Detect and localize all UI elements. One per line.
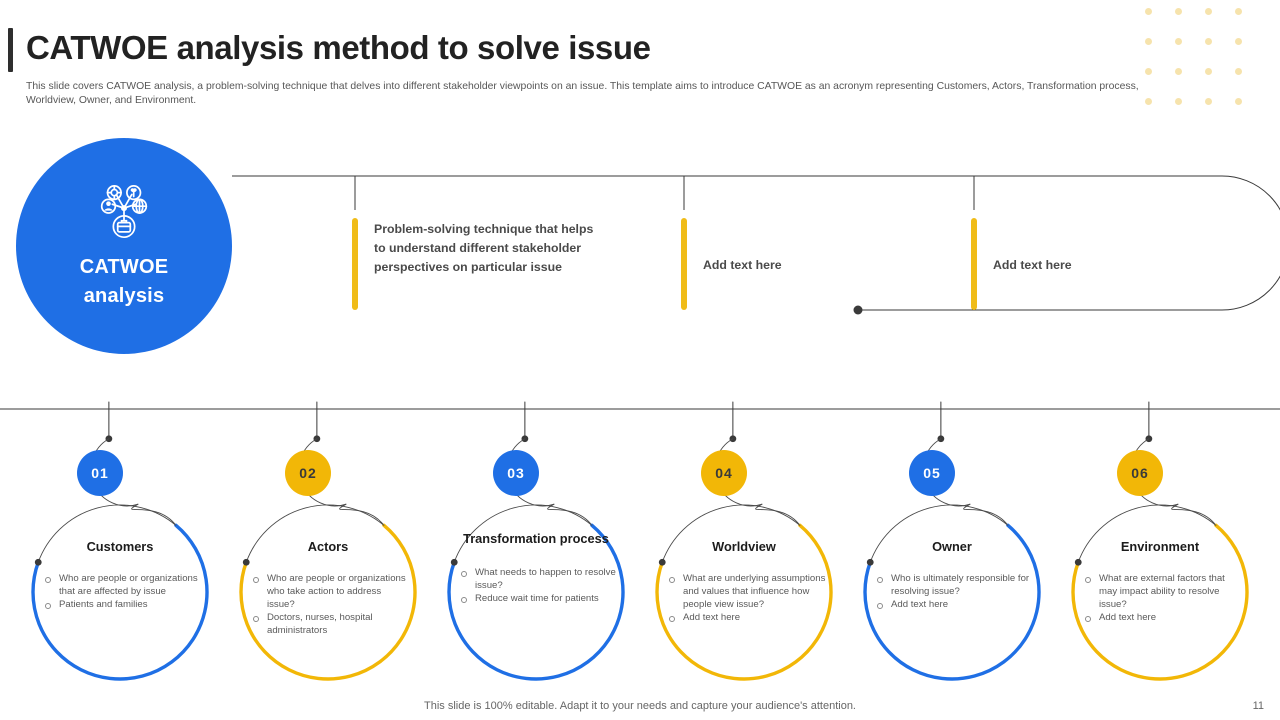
title-accent-bar — [8, 28, 13, 72]
card-title: Customers — [33, 538, 207, 556]
network-hub-icon — [93, 181, 155, 243]
card-bullet-item: Add text here — [1083, 611, 1243, 624]
catwoe-hub-label-line1: CATWOE — [80, 256, 169, 278]
decorative-dot — [1175, 38, 1182, 45]
catwoe-hub-label-line2: analysis — [84, 285, 165, 307]
page-subtitle: This slide covers CATWOE analysis, a pro… — [26, 80, 1186, 108]
page-title: CATWOE analysis method to solve issue — [26, 27, 651, 69]
card-bullet-list: Who are people or organizations who take… — [251, 572, 411, 637]
top-item-1-bar — [352, 218, 358, 310]
decorative-dot — [1205, 68, 1212, 75]
top-item-3-bar — [971, 218, 977, 310]
card-bullet-item: Add text here — [875, 598, 1035, 611]
page-number: 11 — [1253, 700, 1264, 712]
card-arc-start-dot — [867, 559, 874, 566]
card-bullet-item: Reduce wait time for patients — [459, 592, 619, 605]
card-06[interactable]: 06EnvironmentWhat are external factors t… — [1055, 400, 1265, 690]
catwoe-hub-circle[interactable]: CATWOE analysis — [16, 138, 232, 354]
card-bullet-item: Who are people or organizations that are… — [43, 572, 203, 598]
card-arc-start-dot — [659, 559, 666, 566]
decorative-dot — [1235, 38, 1242, 45]
top-item-2-bar — [681, 218, 687, 310]
decorative-dot — [1145, 8, 1152, 15]
card-05[interactable]: 05OwnerWho is ultimately responsible for… — [847, 400, 1057, 690]
card-bullet-item: Add text here — [667, 611, 827, 624]
card-bullet-item: Who is ultimately responsible for resolv… — [875, 572, 1035, 598]
card-02[interactable]: 02ActorsWho are people or organizations … — [223, 400, 433, 690]
card-bullet-item: What needs to happen to resolve issue? — [459, 566, 619, 592]
decorative-dot — [1235, 8, 1242, 15]
card-arc-start-dot — [35, 559, 42, 566]
card-arc-start-dot — [451, 559, 458, 566]
card-bullet-item: Doctors, nurses, hospital administrators — [251, 611, 411, 637]
catwoe-hub-label: CATWOE analysis — [80, 253, 169, 311]
card-number-badge[interactable]: 03 — [493, 450, 539, 496]
decorative-dot — [1205, 98, 1212, 105]
card-bullet-list: What are underlying assumptions and valu… — [667, 572, 827, 624]
card-bullet-item: What are underlying assumptions and valu… — [667, 572, 827, 611]
card-bullet-list: Who is ultimately responsible for resolv… — [875, 572, 1035, 611]
cards-row: 01CustomersWho are people or organizatio… — [0, 400, 1280, 690]
card-bullet-list: What needs to happen to resolve issue?Re… — [459, 566, 619, 605]
card-bullet-item: Who are people or organizations who take… — [251, 572, 411, 611]
card-number-badge[interactable]: 04 — [701, 450, 747, 496]
card-number-badge[interactable]: 06 — [1117, 450, 1163, 496]
card-title: Owner — [865, 538, 1039, 556]
card-01[interactable]: 01CustomersWho are people or organizatio… — [15, 400, 225, 690]
card-title: Actors — [241, 538, 415, 556]
decorative-dot — [1205, 38, 1212, 45]
decorative-dot — [1235, 68, 1242, 75]
card-title: Environment — [1073, 538, 1247, 556]
decorative-dot — [1175, 8, 1182, 15]
card-arc-start-dot — [1075, 559, 1082, 566]
card-bullet-list: What are external factors that may impac… — [1083, 572, 1243, 624]
footer-note: This slide is 100% editable. Adapt it to… — [0, 700, 1280, 712]
top-item-1-text: Problem-solving technique that helps to … — [374, 220, 604, 277]
card-03[interactable]: 03Transformation processWhat needs to ha… — [431, 400, 641, 690]
card-number-badge[interactable]: 05 — [909, 450, 955, 496]
u-turn-endpoint-dot — [854, 306, 863, 315]
decorative-dot — [1145, 68, 1152, 75]
card-bullet-item: Patients and families — [43, 598, 203, 611]
decorative-dot — [1175, 68, 1182, 75]
card-arc-start-dot — [243, 559, 250, 566]
top-item-3-text: Add text here — [993, 256, 1223, 275]
card-number-badge[interactable]: 01 — [77, 450, 123, 496]
top-item-2-text: Add text here — [703, 256, 933, 275]
decorative-dot — [1145, 38, 1152, 45]
top-diagram: CATWOE analysis Problem-solving techniqu… — [0, 130, 1280, 395]
decorative-dot — [1205, 8, 1212, 15]
card-bullet-item: What are external factors that may impac… — [1083, 572, 1243, 611]
card-number-badge[interactable]: 02 — [285, 450, 331, 496]
card-title: Transformation process — [449, 530, 623, 548]
card-bullet-list: Who are people or organizations that are… — [43, 572, 203, 611]
card-04[interactable]: 04WorldviewWhat are underlying assumptio… — [639, 400, 849, 690]
card-title: Worldview — [657, 538, 831, 556]
decorative-dot — [1235, 98, 1242, 105]
u-turn-curve — [858, 176, 1280, 310]
